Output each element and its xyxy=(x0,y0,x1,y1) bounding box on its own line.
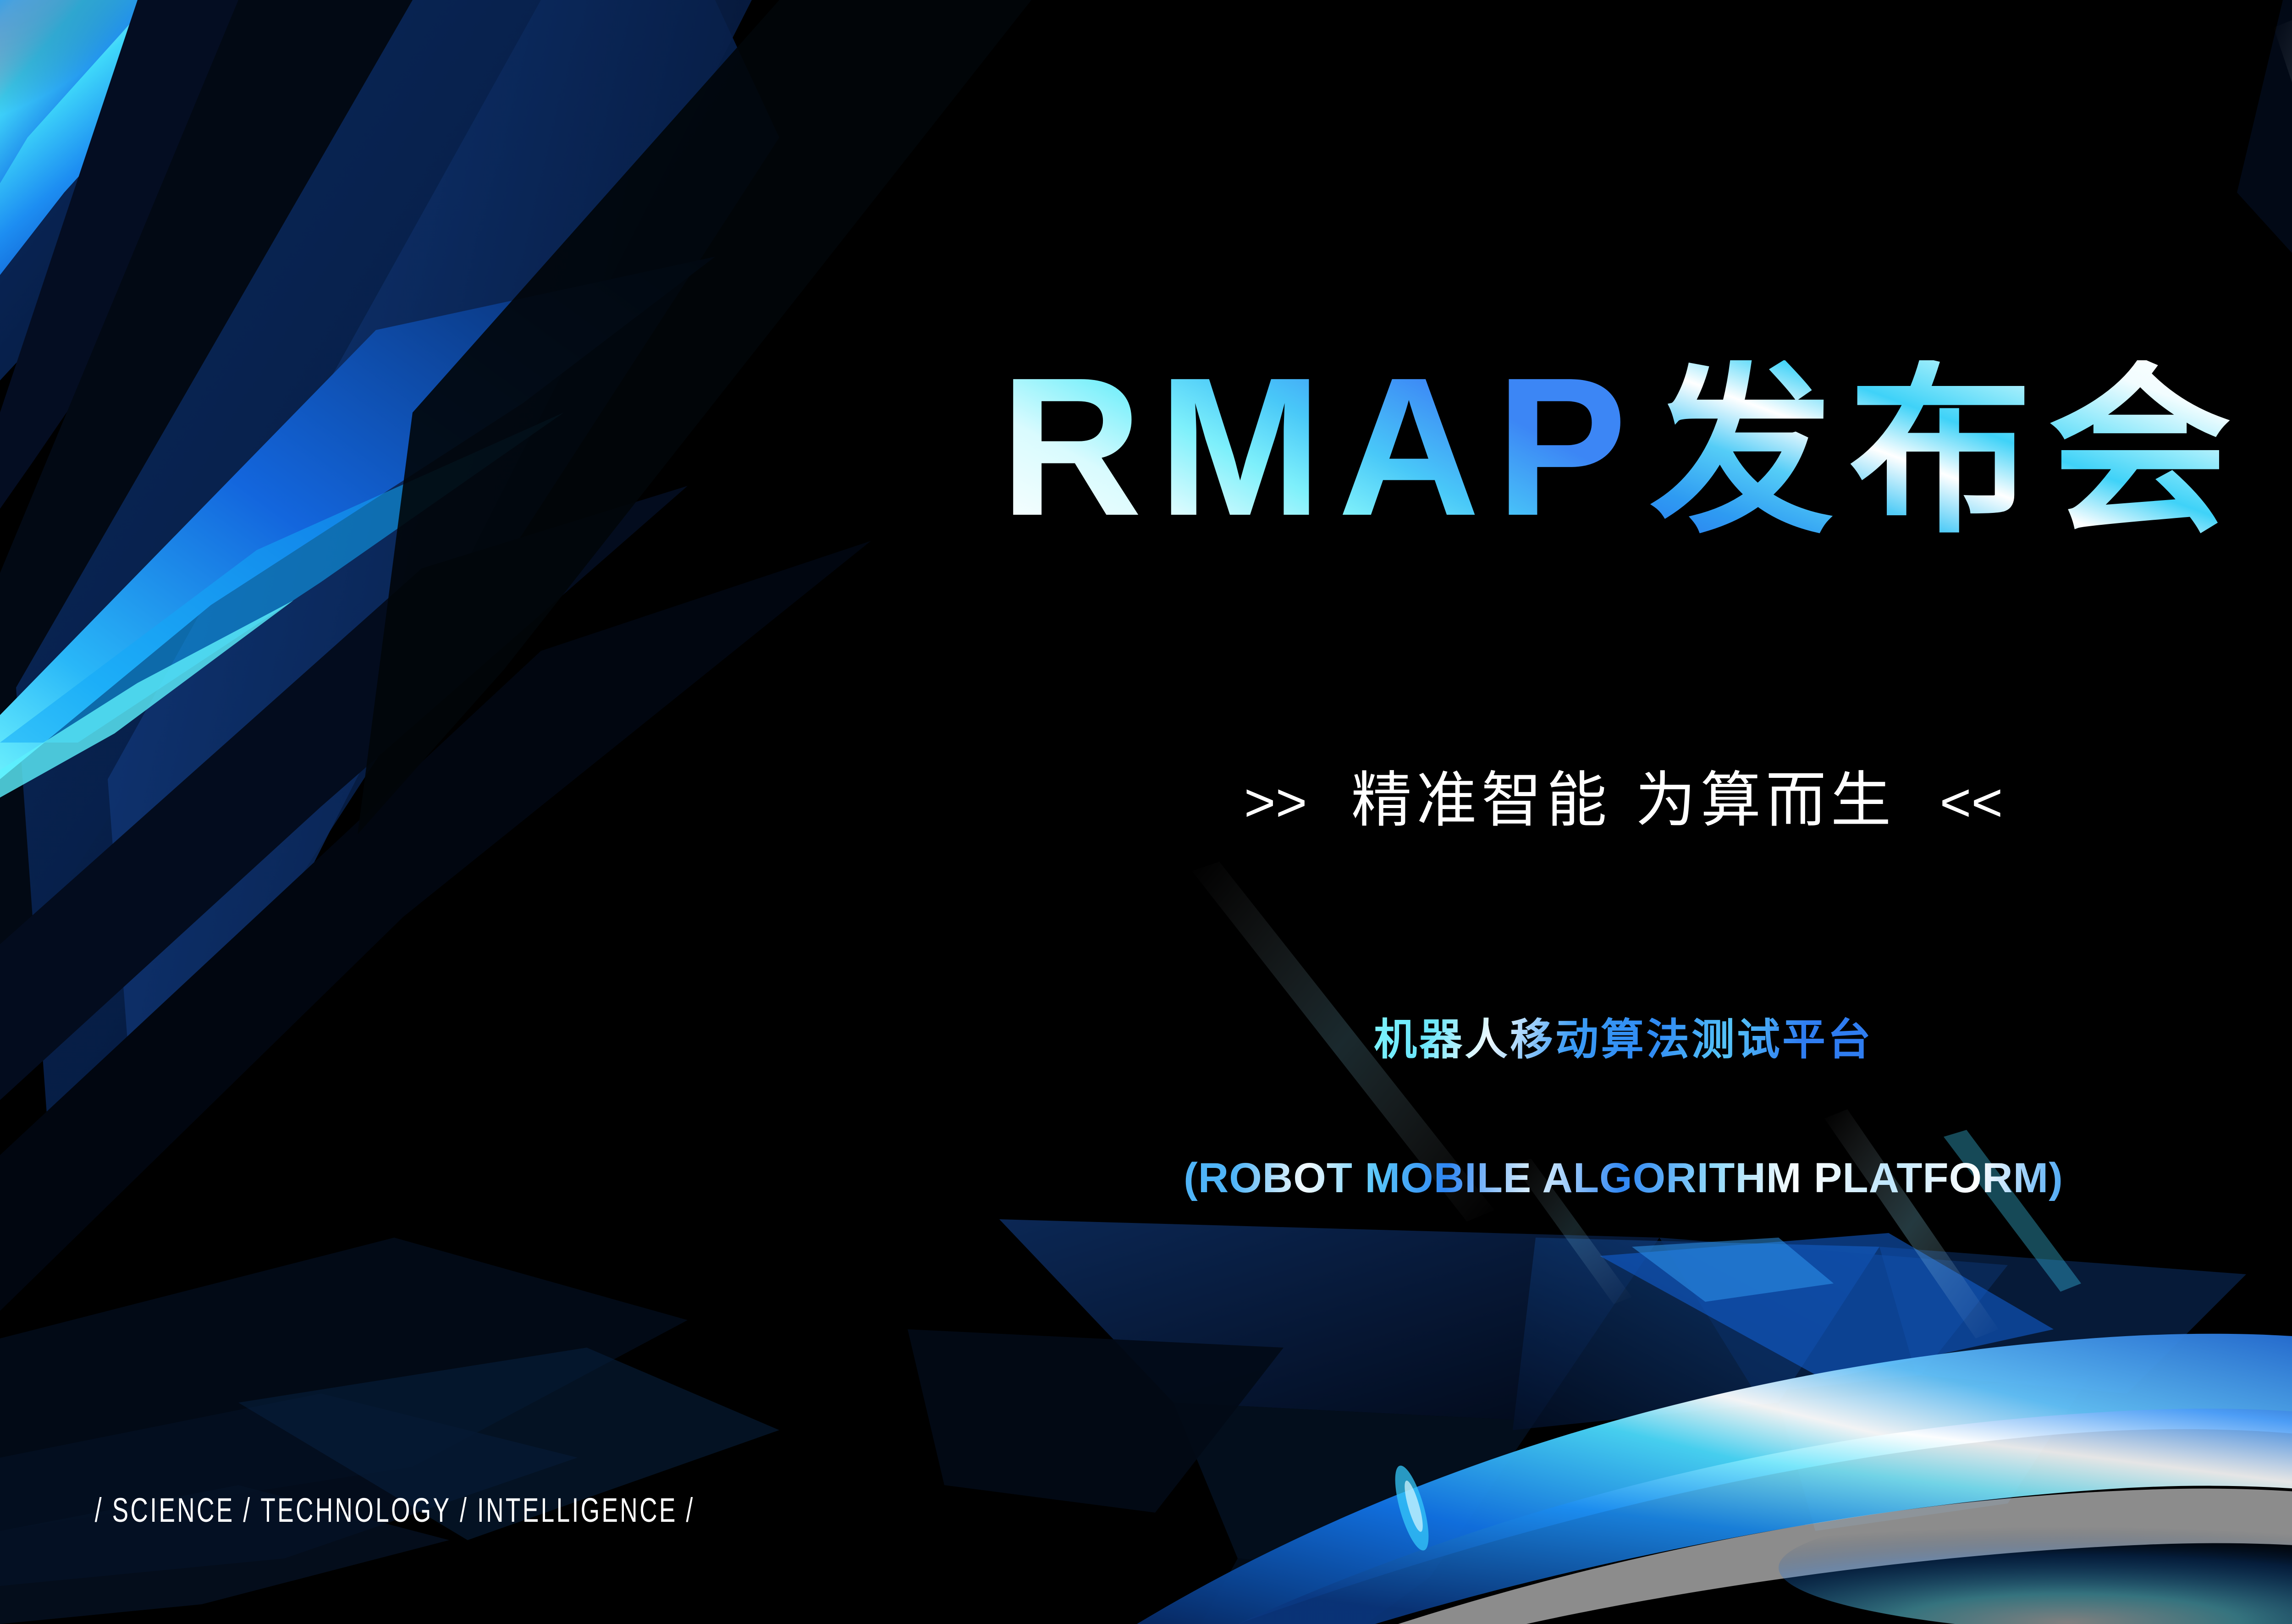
subtitle-english-text: (ROBOT MOBILE ALGORITHM PLATFORM) xyxy=(1184,1155,2063,1201)
footer-item-science: SCIENCE xyxy=(112,1491,235,1529)
footer-separator-2: / xyxy=(460,1491,468,1529)
title-chinese-text: 发布会 xyxy=(1650,360,2247,544)
tagline-text: 精准智能 为算而生 xyxy=(1351,765,1896,836)
tagline-right-chevron: << xyxy=(1939,772,2003,833)
poster-canvas: 上海机器人产业技术研究院 SHANGHAI ROBOT INDUSTRIAL T… xyxy=(0,0,2292,1624)
footer-separator-0: / xyxy=(95,1491,104,1529)
page-title: RMAP 发布会 xyxy=(0,348,2292,623)
subtitle-chinese: 机器人移动算法测试平台 xyxy=(0,1018,2292,1062)
footer-separator-1: / xyxy=(243,1491,252,1529)
tagline: >> 精准智能 为算而生 << xyxy=(0,770,2292,831)
tagline-left-chevron: >> xyxy=(1244,772,1307,833)
footer-item-intelligence: INTELLIGENCE xyxy=(477,1491,678,1529)
subtitle-chinese-text: 机器人移动算法测试平台 xyxy=(1374,1015,1873,1065)
subtitle-english: (ROBOT MOBILE ALGORITHM PLATFORM) xyxy=(0,1157,2292,1199)
footer-keywords: /SCIENCE/TECHNOLOGY/INTELLIGENCE/ xyxy=(86,1493,703,1527)
footer-item-technology: TECHNOLOGY xyxy=(260,1491,451,1529)
footer-separator-3: / xyxy=(686,1491,694,1529)
title-latin-text: RMAP xyxy=(1000,348,1642,545)
